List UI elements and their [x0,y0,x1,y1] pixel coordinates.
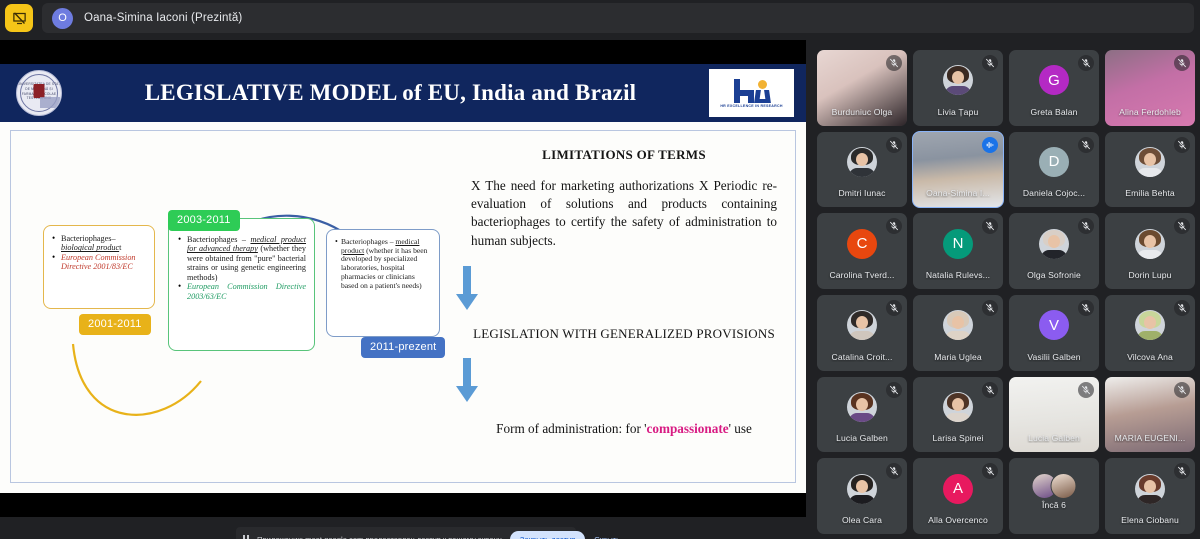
diagram-box-2011: Bacteriophages – medical product (whethe… [326,229,440,337]
participant-name: Burduniuc Olga [817,107,907,117]
share-message: Приложению meet.google.com предоставлен … [257,535,503,539]
limitations-title: LIMITATIONS OF TERMS [453,147,795,163]
administration-form-text: Form of administration: for 'compassiona… [453,421,795,437]
participant-tile[interactable]: Vilcova Ana [1105,295,1195,371]
badge-2003-2011: 2003-2011 [168,210,240,231]
mic-off-icon [1078,137,1094,153]
meet-presentation-screen: O Oana-Simina Iaconi (Prezintă) UNIVERSI… [0,0,1200,539]
presenter-pill[interactable]: O Oana-Simina Iaconi (Prezintă) [42,3,1194,33]
mic-off-icon [1078,55,1094,71]
diagram-box-2003: Bacteriophages – medical product for adv… [168,218,315,351]
generalized-provisions-text: LEGISLATION WITH GENERALIZED PROVISIONS [453,325,795,343]
participant-tile[interactable]: Dmitri Iunac [817,132,907,208]
diagram-box-2001: Bacteriophages– biological product Europ… [43,225,155,309]
participant-name: Dmitri Iunac [817,188,907,198]
participant-initial-avatar: G [1039,65,1069,95]
mic-off-icon [886,382,902,398]
participant-tile[interactable]: Livia Țapu [913,50,1003,126]
mic-off-icon [982,55,998,71]
participant-tile[interactable]: Olea Cara [817,458,907,534]
participant-name: Livia Țapu [913,107,1003,117]
participant-grid: Burduniuc OlgaLivia ȚapuGGreta BalanAlin… [817,50,1195,534]
participant-name: Catalina Croit... [817,352,907,362]
participant-tile[interactable]: Catalina Croit... [817,295,907,371]
participant-name: Daniela Cojoc... [1009,188,1099,198]
box-b-line1-plain: Bacteriophages – [187,235,250,244]
participant-tile[interactable]: Elena Ciobanu [1105,458,1195,534]
participant-tile[interactable]: Emilia Behta [1105,132,1195,208]
participant-name: Carolina Tverd... [817,270,907,280]
hr-logo-mark [731,79,773,103]
screen-share-off-icon[interactable] [5,4,33,32]
participant-initial-avatar: C [847,229,877,259]
participant-photo-avatar [1039,229,1069,259]
box-a-line1-plain: Bacteriophages– [61,234,116,243]
mic-off-icon [886,463,902,479]
mic-off-icon [1078,382,1094,398]
participant-name: Greta Balan [1009,107,1099,117]
overflow-avatars [1032,473,1077,499]
top-bar: O Oana-Simina Iaconi (Prezintă) [0,0,1200,36]
participant-tile[interactable]: CCarolina Tverd... [817,213,907,289]
participant-name: Lucia Galben [817,433,907,443]
participant-tile[interactable]: MARIA EUGENI... [1105,377,1195,453]
participant-name: Vasilii Galben [1009,352,1099,362]
participant-tile[interactable]: Burduniuc Olga [817,50,907,126]
mic-off-icon [886,218,902,234]
presenter-name: Oana-Simina Iaconi (Prezintă) [84,12,242,24]
participant-name: Olea Cara [817,515,907,525]
participant-tile[interactable]: Lucia Galben [817,377,907,453]
participant-name: Olga Sofronie [1009,270,1099,280]
participant-name: MARIA EUGENI... [1105,433,1195,443]
down-arrow-icon-2 [453,358,481,404]
mic-off-icon [1174,55,1190,71]
shared-screen-stage[interactable]: UNIVERSITATEA DE STAT DE MEDICINĂ ȘI FAR… [0,40,806,517]
participant-tile[interactable]: AAlla Overcenco [913,458,1003,534]
participant-name: Lucia Galben [1009,433,1099,443]
mic-off-icon [982,300,998,316]
participant-tile[interactable]: DDaniela Cojoc... [1009,132,1099,208]
participant-tile[interactable]: Lucia Galben [1009,377,1099,453]
participant-photo-avatar [847,474,877,504]
mic-off-icon [982,463,998,479]
limitations-column: LIMITATIONS OF TERMS X The need for mark… [453,131,795,482]
pause-icon[interactable] [243,535,250,539]
participant-tile[interactable]: Oana-Simina I... [913,132,1003,208]
mic-off-icon [1174,300,1190,316]
participant-initial-avatar: A [943,474,973,504]
participant-initial-avatar: N [943,229,973,259]
participant-tile[interactable]: Maria Uglea [913,295,1003,371]
participant-photo-avatar [1135,229,1165,259]
badge-2011-prezent: 2011-prezent [361,337,445,358]
participant-name: Emilia Behta [1105,188,1195,198]
participant-name: Alina Ferdohleb [1105,107,1195,117]
administration-suffix: ' use [729,421,752,436]
mic-off-icon [886,137,902,153]
slide-title: LEGISLATIVE MODEL of EU, India and Brazi… [62,80,709,106]
participant-tile[interactable]: Dorin Lupu [1105,213,1195,289]
mic-off-icon [982,218,998,234]
participant-tile[interactable]: Olga Sofronie [1009,213,1099,289]
participant-tile[interactable]: Alina Ferdohleb [1105,50,1195,126]
participant-name: Oana-Simina I... [913,188,1003,198]
participant-name: Larisa Spinei [913,433,1003,443]
box-c-line1-plain: Bacteriophages – [341,237,395,246]
participant-tile[interactable]: Încă 6 [1009,458,1099,534]
timeline-diagram: Bacteriophages– biological product Europ… [11,131,451,482]
mic-off-icon [1174,137,1190,153]
participant-initial-avatar: V [1039,310,1069,340]
participant-photo-avatar [943,392,973,422]
presentation-slide: UNIVERSITATEA DE STAT DE MEDICINĂ ȘI FAR… [0,64,806,493]
participant-photo-avatar [847,310,877,340]
participant-tile[interactable]: NNatalia Rulevs... [913,213,1003,289]
screen-share-notification: Приложению meet.google.com предоставлен … [236,527,576,539]
hide-notification-button[interactable]: Скрыть [592,535,622,539]
box-b-line2: European Commission Directive 2003/63/EC [187,282,306,300]
university-seal-icon: UNIVERSITATEA DE STAT DE MEDICINĂ ȘI FAR… [16,70,62,116]
mic-active-icon [982,137,998,153]
participant-photo-avatar [847,392,877,422]
hr-excellence-logo: HR EXCELLENCE IN RESEARCH [709,69,794,117]
administration-prefix: Form of administration: for ' [496,421,646,436]
participant-name: Natalia Rulevs... [913,270,1003,280]
box-a-line2: European Commission Directive 2001/83/EC [61,253,136,271]
slide-body: Bacteriophages– biological product Europ… [10,130,796,483]
presenter-avatar: O [52,8,73,29]
mic-off-icon [982,382,998,398]
mic-off-icon [886,300,902,316]
participant-photo-avatar [943,65,973,95]
participant-photo-avatar [847,147,877,177]
participant-name: Încă 6 [1009,500,1099,510]
compassionate-highlight: compassionate [647,421,729,436]
badge-2001-2011: 2001-2011 [79,314,151,335]
participant-name: Maria Uglea [913,352,1003,362]
mic-off-icon [1078,300,1094,316]
mic-off-icon [1078,218,1094,234]
participant-name: Dorin Lupu [1105,270,1195,280]
mic-off-icon [1174,463,1190,479]
participant-photo-avatar [1135,147,1165,177]
participant-name: Vilcova Ana [1105,352,1195,362]
participant-tile[interactable]: VVasilii Galben [1009,295,1099,371]
participant-tile[interactable]: Larisa Spinei [913,377,1003,453]
box-a-line1-tail: t [119,243,121,252]
participant-photo-avatar [1135,474,1165,504]
slide-header: UNIVERSITATEA DE STAT DE MEDICINĂ ȘI FAR… [0,64,806,122]
participant-photo-avatar [943,310,973,340]
participant-tile[interactable]: GGreta Balan [1009,50,1099,126]
participant-name: Elena Ciobanu [1105,515,1195,525]
limitations-body: X The need for marketing authorizations … [471,177,777,250]
mic-off-icon [886,55,902,71]
stop-sharing-button[interactable]: Закрыть доступ [510,531,585,539]
down-arrow-icon-1 [453,266,481,312]
participant-name: Alla Overcenco [913,515,1003,525]
participant-initial-avatar: D [1039,147,1069,177]
hr-logo-caption: HR EXCELLENCE IN RESEARCH [720,104,782,108]
box-a-line1-underlined: biological produc [61,243,119,252]
mic-off-icon [1174,218,1190,234]
participant-photo-avatar [1135,310,1165,340]
mic-off-icon [1174,382,1190,398]
